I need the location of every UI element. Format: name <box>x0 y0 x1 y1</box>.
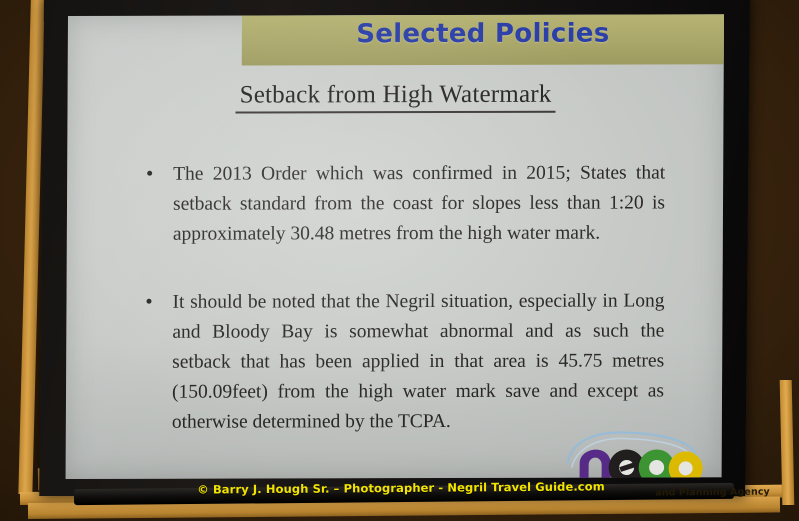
bullet-dot-icon <box>146 299 151 304</box>
slide-subtitle: Setback from High Watermark <box>68 80 724 110</box>
nepa-logo <box>562 423 708 479</box>
nepa-logo-graphic <box>562 423 708 479</box>
list-item: The 2013 Order which was confirmed in 20… <box>145 158 665 249</box>
photo-of-projected-slide: Selected Policies Setback from High Wate… <box>0 0 799 521</box>
list-item: It should be noted that the Negril situa… <box>144 286 665 437</box>
logo-caption-and-planning-agency: and Planning Agency <box>640 486 785 498</box>
slide-subtitle-text: Setback from High Watermark <box>236 81 556 114</box>
bullet-text: The 2013 Order which was confirmed in 20… <box>173 162 665 244</box>
slide-title: Selected Policies <box>242 18 724 49</box>
slide-title-banner: Selected Policies <box>242 14 724 65</box>
logo-letter-n <box>580 450 611 479</box>
bullet-dot-icon <box>147 171 152 176</box>
bullet-text: It should be noted that the Negril situa… <box>172 290 665 432</box>
presentation-slide: Selected Policies Setback from High Wate… <box>66 14 724 479</box>
